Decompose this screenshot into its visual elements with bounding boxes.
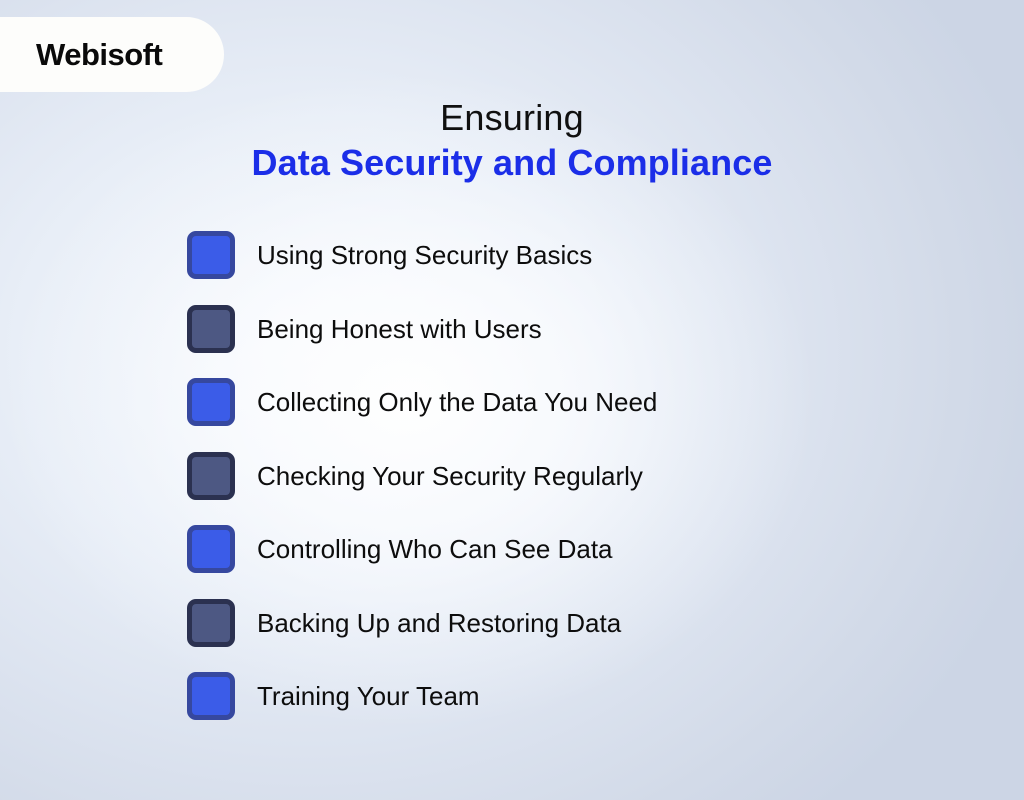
square-icon [187,231,235,279]
square-icon [187,378,235,426]
page-title-secondary: Data Security and Compliance [0,140,1024,186]
list-item[interactable]: Checking Your Security Regularly [187,452,987,500]
bullet-point-list: Using Strong Security BasicsBeing Honest… [187,231,987,720]
brand-logo-text: Webisoft [36,39,162,70]
list-item[interactable]: Being Honest with Users [187,305,987,353]
square-icon [187,599,235,647]
list-item-label: Collecting Only the Data You Need [257,378,657,426]
slide-canvas: Webisoft Ensuring Data Security and Comp… [0,0,1024,800]
square-icon [187,525,235,573]
list-item[interactable]: Using Strong Security Basics [187,231,987,279]
list-item-label: Using Strong Security Basics [257,231,592,279]
list-item-label: Checking Your Security Regularly [257,452,643,500]
square-icon [187,672,235,720]
list-item[interactable]: Training Your Team [187,672,987,720]
page-title-primary: Ensuring [0,96,1024,140]
list-item-label: Backing Up and Restoring Data [257,599,621,647]
square-icon [187,305,235,353]
brand-logo-pill: Webisoft [0,17,224,92]
list-item[interactable]: Collecting Only the Data You Need [187,378,987,426]
square-icon [187,452,235,500]
list-item-label: Controlling Who Can See Data [257,525,613,573]
slide-heading: Ensuring Data Security and Compliance [0,96,1024,186]
list-item-label: Training Your Team [257,672,480,720]
list-item-label: Being Honest with Users [257,305,542,353]
list-item[interactable]: Controlling Who Can See Data [187,525,987,573]
list-item[interactable]: Backing Up and Restoring Data [187,599,987,647]
